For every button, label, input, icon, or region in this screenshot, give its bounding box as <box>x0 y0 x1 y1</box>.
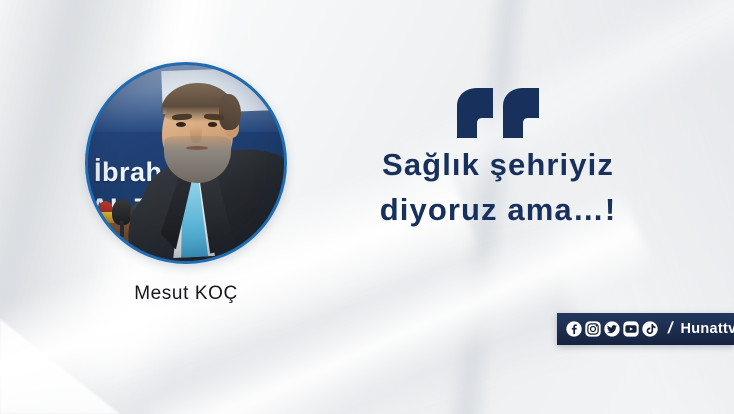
quote-block: Sağlık şehriyiz diyoruz ama…! <box>338 88 658 232</box>
twitter-icon[interactable] <box>604 321 620 337</box>
quote-text: Sağlık şehriyiz diyoruz ama…! <box>338 142 658 232</box>
youtube-icon[interactable] <box>623 321 639 337</box>
quote-line-2: diyoruz ama…! <box>338 187 658 232</box>
photo-eye-right <box>208 122 218 127</box>
tiktok-icon[interactable] <box>642 321 658 337</box>
person-name: Mesut KOÇ <box>85 283 287 305</box>
social-icon-list <box>566 321 658 337</box>
avatar-ring: İbrah AL TI <box>85 62 287 264</box>
portrait-photo: İbrah AL TI <box>88 65 284 261</box>
instagram-icon[interactable] <box>585 321 601 337</box>
photo-hair-side <box>219 94 241 129</box>
quote-card: İbrah AL TI <box>0 0 734 414</box>
brand-name[interactable]: Hunattv <box>680 321 734 337</box>
avatar: İbrah AL TI <box>85 62 287 264</box>
separator-slash: / <box>666 321 674 337</box>
photo-microphone-stem-1 <box>120 221 124 237</box>
social-bar: / Hunattv <box>557 313 734 345</box>
quote-line-1: Sağlık şehriyiz <box>338 142 658 187</box>
facebook-icon[interactable] <box>566 321 582 337</box>
photo-eye-left <box>176 122 186 127</box>
quote-open-icon <box>455 88 541 138</box>
